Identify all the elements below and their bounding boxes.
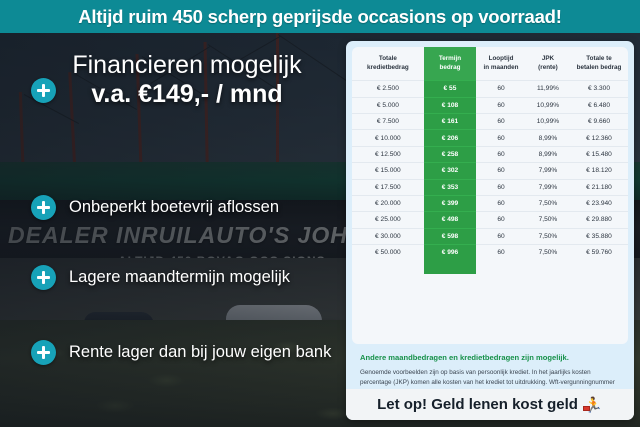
table-row: € 20.000€ 399607,50%€ 23.940 [352,195,628,211]
col-header-krediet: Totale kredietbedrag [352,47,424,81]
cell-termijn: € 55 [424,81,476,97]
cell-jpk: 10,99% [526,114,570,130]
promo-bullet-3-label: Rente lager dan bij jouw eigen bank [69,343,331,362]
financing-table: Totale kredietbedrag Termijn bedrag Loop… [352,47,628,260]
cell-termijn: € 258 [424,146,476,162]
cell-jpk: 7,50% [526,212,570,228]
cell-termijn: € 353 [424,179,476,195]
col-header-looptijd: Looptijd in maanden [476,47,526,81]
plus-icon [31,340,56,365]
cell-termijn: € 108 [424,97,476,113]
promo-headline-line2: v.a. €149,- / mnd [28,79,346,109]
advertisement-banner: DEALER INRUILAUTO'S JOHAN MEURE ALTIJD 4… [0,0,640,427]
table-header-row: Totale kredietbedrag Termijn bedrag Loop… [352,47,628,81]
cell-termijn: € 302 [424,163,476,179]
cell-totaal: € 9.660 [570,114,628,130]
ball-and-chain-walking-person-icon: 🏃 [583,397,603,413]
cell-looptijd: 60 [476,228,526,244]
financing-table-body: € 2.500€ 556011,99%€ 3.300€ 5.000€ 10860… [352,81,628,261]
cell-totaal: € 23.940 [570,195,628,211]
cell-totaal: € 12.360 [570,130,628,146]
cell-totaal: € 6.480 [570,97,628,113]
cell-totaal: € 35.880 [570,228,628,244]
financing-table-wrapper: Totale kredietbedrag Termijn bedrag Loop… [352,47,628,344]
cell-looptijd: 60 [476,146,526,162]
cell-termijn: € 399 [424,195,476,211]
table-row: € 2.500€ 556011,99%€ 3.300 [352,81,628,97]
cell-totaal: € 18.120 [570,163,628,179]
table-row: € 7.500€ 1616010,99%€ 9.660 [352,114,628,130]
promo-headline: Financieren mogelijk v.a. €149,- / mnd [28,51,346,109]
cell-termijn: € 996 [424,245,476,261]
cell-jpk: 7,50% [526,228,570,244]
cell-krediet: € 12.500 [352,146,424,162]
financing-table-head: Totale kredietbedrag Termijn bedrag Loop… [352,47,628,81]
cell-krediet: € 5.000 [352,97,424,113]
cell-krediet: € 7.500 [352,114,424,130]
col-header-jpk: JPK (rente) [526,47,570,81]
table-row: € 25.000€ 498607,50%€ 29.880 [352,212,628,228]
cell-totaal: € 3.300 [570,81,628,97]
cell-looptijd: 60 [476,130,526,146]
top-banner: Altijd ruim 450 scherp geprijsde occasio… [0,0,640,33]
cell-looptijd: 60 [476,81,526,97]
cell-jpk: 7,50% [526,245,570,261]
cell-totaal: € 15.480 [570,146,628,162]
cell-termijn: € 206 [424,130,476,146]
cell-jpk: 8,99% [526,146,570,162]
note-title: Andere maandbedragen en kredietbedragen … [360,353,622,363]
cell-jpk: 7,99% [526,179,570,195]
top-banner-text: Altijd ruim 450 scherp geprijsde occasio… [78,6,562,28]
warning-bar: Let op! Geld lenen kost geld 🏃 [346,389,634,420]
cell-jpk: 8,99% [526,130,570,146]
cell-krediet: € 30.000 [352,228,424,244]
cell-jpk: 7,99% [526,163,570,179]
table-row: € 17.500€ 353607,99%€ 21.180 [352,179,628,195]
walking-person-glyph: 🏃 [584,398,603,413]
table-row: € 30.000€ 598607,50%€ 35.880 [352,228,628,244]
table-row: € 12.500€ 258608,99%€ 15.480 [352,146,628,162]
promo-copy: Financieren mogelijk v.a. €149,- / mnd O… [0,33,348,427]
cell-looptijd: 60 [476,212,526,228]
promo-bullet-2-label: Lagere maandtermijn mogelijk [69,268,290,287]
cell-krediet: € 20.000 [352,195,424,211]
cell-totaal: € 21.180 [570,179,628,195]
cell-looptijd: 60 [476,114,526,130]
cell-jpk: 7,50% [526,195,570,211]
cell-jpk: 10,99% [526,97,570,113]
cell-krediet: € 25.000 [352,212,424,228]
cell-krediet: € 17.500 [352,179,424,195]
table-row: € 5.000€ 1086010,99%€ 6.480 [352,97,628,113]
cell-krediet: € 10.000 [352,130,424,146]
table-row: € 15.000€ 302607,99%€ 18.120 [352,163,628,179]
promo-bullet-1-label: Onbeperkt boetevrij aflossen [69,198,279,217]
table-row: € 50.000€ 996607,50%€ 59.760 [352,245,628,261]
cell-looptijd: 60 [476,163,526,179]
cell-jpk: 11,99% [526,81,570,97]
plus-icon [31,265,56,290]
cell-termijn: € 161 [424,114,476,130]
cell-looptijd: 60 [476,97,526,113]
warning-text: Let op! Geld lenen kost geld [377,396,578,413]
col-header-termijn: Termijn bedrag [424,47,476,81]
cell-totaal: € 29.880 [570,212,628,228]
cell-termijn: € 598 [424,228,476,244]
plus-icon [31,195,56,220]
cell-looptijd: 60 [476,179,526,195]
cell-termijn: € 498 [424,212,476,228]
table-row: € 10.000€ 206608,99%€ 12.360 [352,130,628,146]
plus-icon [31,78,56,103]
cell-looptijd: 60 [476,195,526,211]
cell-looptijd: 60 [476,245,526,261]
cell-krediet: € 2.500 [352,81,424,97]
cell-krediet: € 15.000 [352,163,424,179]
cell-krediet: € 50.000 [352,245,424,261]
financing-card: Totale kredietbedrag Termijn bedrag Loop… [346,41,634,420]
cell-totaal: € 59.760 [570,245,628,261]
col-header-totaal: Totale te betalen bedrag [570,47,628,81]
promo-headline-line1: Financieren mogelijk [28,51,346,79]
